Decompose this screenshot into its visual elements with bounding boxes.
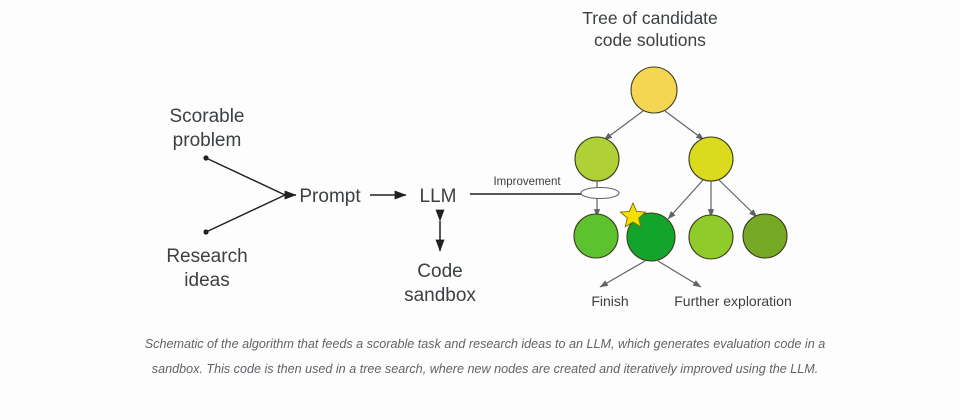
- tree-node-level2-left[interactable]: [575, 137, 619, 181]
- outcome-label-further-exploration: Further exploration: [674, 293, 792, 309]
- input-flow-group: Scorable problem Research ideas Prompt L…: [166, 106, 614, 306]
- figure-caption: Schematic of the algorithm that feeds a …: [140, 332, 830, 382]
- tree-group: Tree of candidate code solutions: [574, 8, 792, 309]
- outcome-arrow-further-exploration: [658, 261, 701, 287]
- tree-node-leaf-4[interactable]: [743, 214, 787, 258]
- outcome-arrow-finish: [600, 261, 645, 287]
- tree-edge-level2right-to-leaf2: [668, 180, 703, 219]
- improvement-label: Improvement: [493, 176, 561, 188]
- tree-title-line2: code solutions: [594, 30, 706, 50]
- research-ideas-label-line2: ideas: [184, 270, 229, 291]
- tree-title-line1: Tree of candidate: [582, 8, 718, 28]
- input-scorable-problem: Scorable problem: [170, 106, 286, 195]
- figure-container: Scorable problem Research ideas Prompt L…: [0, 0, 960, 420]
- schematic-diagram: Scorable problem Research ideas Prompt L…: [0, 0, 960, 330]
- prompt-label: Prompt: [299, 186, 361, 207]
- tree-edge-root-to-level2-right: [665, 111, 704, 140]
- research-ideas-connector: [206, 195, 285, 232]
- input-research-ideas: Research ideas: [166, 195, 285, 291]
- tree-edge-level2right-to-leaf4: [719, 180, 757, 217]
- tree-edge-root-to-level2-left: [604, 111, 643, 140]
- tree-node-level2-right[interactable]: [689, 137, 733, 181]
- scorable-problem-label-line2: problem: [173, 130, 242, 151]
- llm-label: LLM: [420, 186, 457, 207]
- tree-node-leaf-1[interactable]: [574, 214, 618, 258]
- scorable-problem-label-line1: Scorable: [170, 106, 245, 127]
- improvement-ring: [581, 188, 619, 199]
- outcome-label-finish: Finish: [591, 293, 628, 309]
- code-sandbox-label-line2: sandbox: [404, 285, 476, 306]
- scorable-problem-connector: [206, 158, 285, 195]
- tree-node-leaf-3[interactable]: [689, 215, 733, 259]
- research-ideas-label-line1: Research: [166, 246, 247, 267]
- code-sandbox-label-line1: Code: [417, 261, 462, 282]
- tree-node-root[interactable]: [631, 67, 677, 113]
